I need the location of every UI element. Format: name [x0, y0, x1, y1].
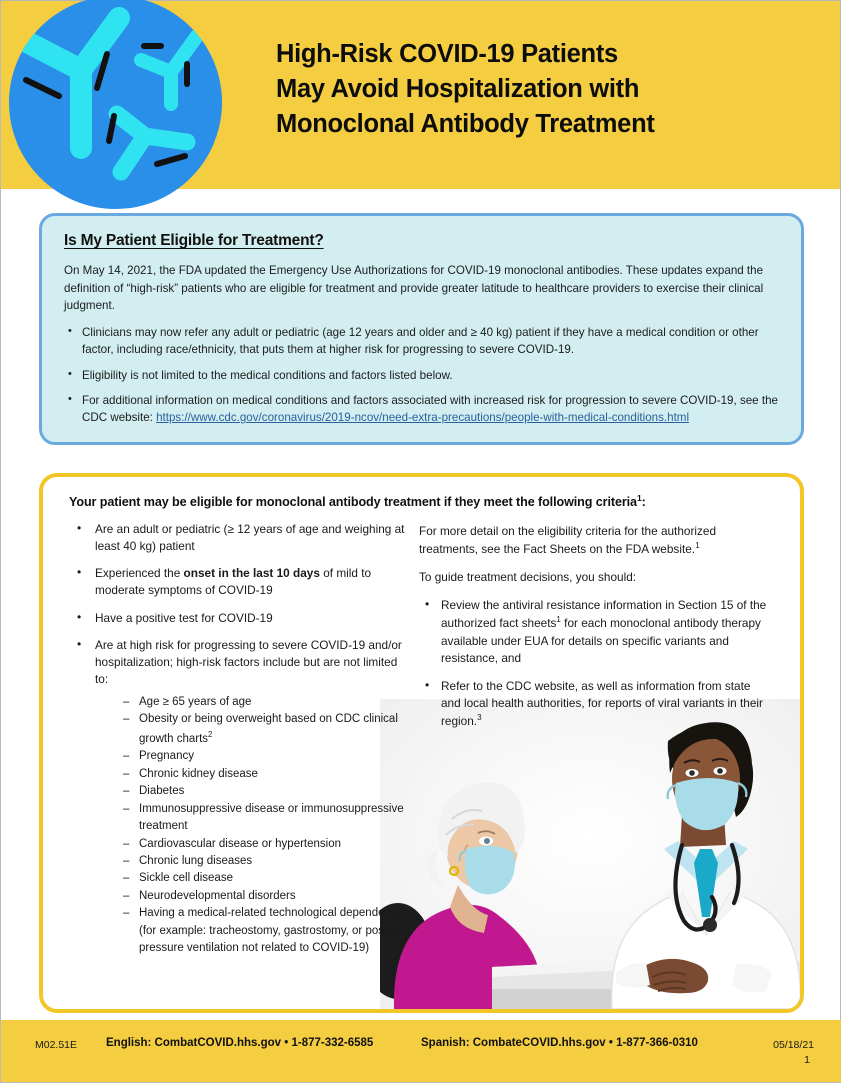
risk-factor-item: Obesity or being overweight based on CDC…	[123, 711, 409, 748]
criteria-item-bold: onset in the last 10 days	[184, 566, 320, 580]
criteria-heading-footnote: 1	[637, 493, 642, 503]
criteria-item-text: Are an adult or pediatric (≥ 12 years of…	[95, 522, 404, 553]
document-page: High-Risk COVID-19 Patients May Avoid Ho…	[0, 0, 841, 1083]
risk-factor-item: Sickle cell disease	[123, 870, 409, 887]
guide-decisions-paragraph: To guide treatment decisions, you should…	[419, 569, 769, 586]
criteria-right-column: For more detail on the eligibility crite…	[419, 521, 769, 968]
fda-website-footnote: 1	[695, 541, 699, 550]
criteria-item: Are at high risk for progressing to seve…	[69, 637, 409, 958]
document-header: High-Risk COVID-19 Patients May Avoid Ho…	[1, 1, 840, 189]
risk-factor-item: Chronic kidney disease	[123, 766, 409, 783]
eligibility-bullet: Clinicians may now refer any adult or pe…	[64, 324, 779, 359]
risk-factor-item: Chronic lung diseases	[123, 853, 409, 870]
risk-factor-item: Age ≥ 65 years of age	[123, 694, 409, 711]
guidance-item-prefix: Refer to the CDC website, as well as inf…	[441, 679, 763, 728]
risk-factor-item: Diabetes	[123, 783, 409, 800]
title-line-2: May Avoid Hospitalization with	[276, 72, 821, 107]
risk-factor-list: Age ≥ 65 years of age Obesity or being o…	[95, 694, 409, 958]
eligibility-heading: Is My Patient Eligible for Treatment?	[64, 232, 779, 250]
criteria-columns: Are an adult or pediatric (≥ 12 years of…	[69, 521, 780, 968]
criteria-heading: Your patient may be eligible for monoclo…	[69, 493, 780, 509]
risk-factor-item: Immunosuppressive disease or immunosuppr…	[123, 801, 409, 836]
criteria-item-text: Have a positive test for COVID-19	[95, 611, 273, 625]
risk-factor-item: Having a medical-related technological d…	[123, 905, 409, 957]
criteria-heading-text: Your patient may be eligible for monoclo…	[69, 495, 637, 509]
eligibility-bullet-list: Clinicians may now refer any adult or pe…	[64, 324, 779, 427]
guidance-list: Review the antiviral resistance informat…	[419, 597, 769, 730]
criteria-left-column: Are an adult or pediatric (≥ 12 years of…	[69, 521, 409, 968]
footer-page-number: 1	[804, 1054, 810, 1066]
criteria-main-list: Are an adult or pediatric (≥ 12 years of…	[69, 521, 409, 958]
footer-date: 05/18/21	[773, 1039, 814, 1051]
footer-english-contact: English: CombatCOVID.hhs.gov • 1-877-332…	[106, 1037, 373, 1049]
criteria-item: Experienced the onset in the last 10 day…	[69, 565, 409, 599]
guidance-item: Refer to the CDC website, as well as inf…	[419, 678, 769, 730]
risk-factor-item: Cardiovascular disease or hypertension	[123, 836, 409, 853]
risk-factor-text: Neurodevelopmental disorders	[139, 890, 296, 902]
risk-factor-text: Having a medical-related technological d…	[139, 907, 404, 954]
risk-factor-text: Pregnancy	[139, 750, 194, 762]
eligibility-bullet: Eligibility is not limited to the medica…	[64, 367, 779, 384]
risk-factor-text: Cardiovascular disease or hypertension	[139, 838, 341, 850]
risk-factor-text: Chronic lung diseases	[139, 855, 252, 867]
guidance-item: Review the antiviral resistance informat…	[419, 597, 769, 666]
risk-factor-text: Chronic kidney disease	[139, 768, 258, 780]
page-title: High-Risk COVID-19 Patients May Avoid Ho…	[276, 37, 821, 142]
footer-document-code: M02.51E	[35, 1039, 77, 1051]
criteria-item: Are an adult or pediatric (≥ 12 years of…	[69, 521, 409, 555]
title-line-3: Monoclonal Antibody Treatment	[276, 107, 821, 142]
risk-factor-text: Immunosuppressive disease or immunosuppr…	[139, 803, 404, 832]
risk-factor-text: Age ≥ 65 years of age	[139, 696, 251, 708]
eligibility-info-box: Is My Patient Eligible for Treatment? On…	[39, 213, 804, 445]
eligibility-intro-text: On May 14, 2021, the FDA updated the Eme…	[64, 262, 779, 315]
fda-website-text: For more detail on the eligibility crite…	[419, 524, 716, 556]
risk-factor-text: Diabetes	[139, 785, 184, 797]
fda-website-paragraph: For more detail on the eligibility crite…	[419, 523, 769, 558]
footer-spanish-contact: Spanish: CombateCOVID.hhs.gov • 1-877-36…	[421, 1037, 698, 1049]
criteria-item: Have a positive test for COVID-19	[69, 610, 409, 627]
risk-factor-item: Neurodevelopmental disorders	[123, 888, 409, 905]
risk-factor-text: Obesity or being overweight based on CDC…	[139, 713, 398, 744]
document-footer: M02.51E English: CombatCOVID.hhs.gov • 1…	[1, 1020, 841, 1082]
antibody-logo	[9, 0, 222, 209]
cdc-website-link[interactable]: https://www.cdc.gov/coronavirus/2019-nco…	[156, 411, 689, 424]
risk-factor-item: Pregnancy	[123, 748, 409, 765]
risk-factor-footnote: 2	[208, 730, 212, 739]
risk-factor-text: Sickle cell disease	[139, 872, 233, 884]
guidance-item-footnote: 3	[477, 713, 481, 722]
criteria-box: Your patient may be eligible for monoclo…	[39, 473, 804, 1013]
criteria-item-text: Are at high risk for progressing to seve…	[95, 638, 402, 686]
eligibility-bullet-with-link: For additional information on medical co…	[64, 392, 779, 427]
criteria-item-prefix: Experienced the	[95, 566, 184, 580]
title-line-1: High-Risk COVID-19 Patients	[276, 37, 821, 72]
